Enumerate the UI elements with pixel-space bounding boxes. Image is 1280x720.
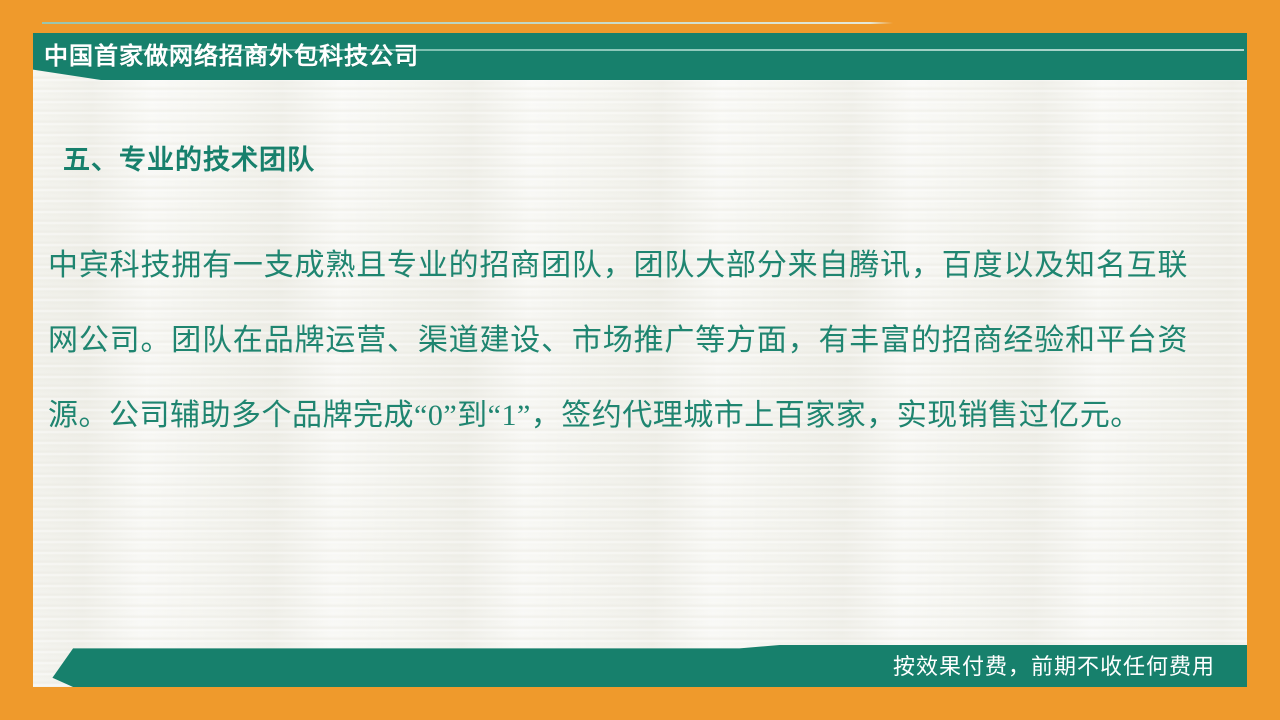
content-area: 五、专业的技术团队 中宾科技拥有一支成熟且专业的招商团队，团队大部分来自腾讯，百… xyxy=(33,80,1247,640)
footer-tagline: 按效果付费，前期不收任何费用 xyxy=(893,645,1215,687)
footer-hairline-divider xyxy=(42,22,1192,24)
section-heading: 五、专业的技术团队 xyxy=(63,138,315,177)
body-paragraph: 中宾科技拥有一支成熟且专业的招商团队，团队大部分来自腾讯，百度以及知名互联网公司… xyxy=(48,228,1188,453)
slide-root: 中国首家做网络招商外包科技公司 五、专业的技术团队 中宾科技拥有一支成熟且专业的… xyxy=(0,0,1280,720)
header-title: 中国首家做网络招商外包科技公司 xyxy=(44,33,419,80)
body-paragraph-text: 中宾科技拥有一支成熟且专业的招商团队，团队大部分来自腾讯，百度以及知名互联网公司… xyxy=(48,228,1188,453)
